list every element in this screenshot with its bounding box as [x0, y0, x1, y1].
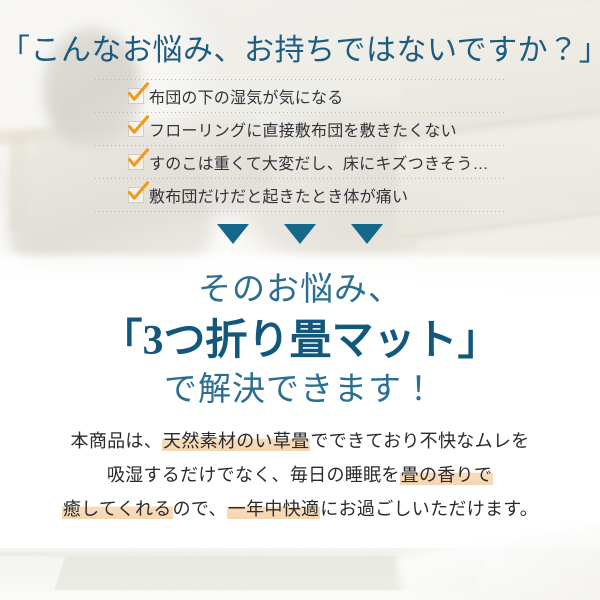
advertisement-banner: 「こんなお悩み、お持ちではないですか？」 布団の下の湿気が気になる フ [0, 0, 600, 600]
page-title: 「こんなお悩み、お持ちではないですか？」 [0, 36, 600, 66]
list-item: フローリングに直接敷布団を敷きたくない [95, 113, 505, 145]
triangle-down-icon [351, 224, 383, 244]
downward-arrows-group [0, 224, 600, 244]
check-mark-icon [128, 154, 144, 170]
list-item-label: すのこは重くて大変だし、床にキズつきそう… [149, 150, 489, 174]
description-segment: 吸湿するだけでなく、毎日の睡眠を [107, 465, 400, 485]
check-mark-icon [128, 88, 144, 104]
solution-closing-text: で解決できます！ [0, 374, 600, 407]
check-mark-icon [128, 121, 144, 137]
list-item-label: フローリングに直接敷布団を敷きたくない [149, 117, 457, 141]
list-item: すのこは重くて大変だし、床にキズつきそう… [95, 146, 505, 178]
description-segment: 本商品は、 [71, 431, 163, 451]
list-item: 布団の下の湿気が気になる [95, 80, 505, 112]
description-highlight: 天然素材のい草畳 [162, 431, 310, 451]
check-mark-icon [128, 187, 144, 203]
description-segment: ので、 [173, 499, 227, 519]
checklist-divider [95, 211, 505, 212]
description-line: 癒してくれるので、一年中快適にお過ごしいただけます。 [0, 492, 600, 526]
description-highlight: 畳の香りで [400, 465, 494, 485]
banner-content: 「こんなお悩み、お持ちではないですか？」 布団の下の湿気が気になる フ [0, 0, 600, 600]
triangle-down-icon [284, 224, 316, 244]
list-item-label: 布団の下の湿気が気になる [149, 84, 343, 108]
description-line: 吸湿するだけでなく、毎日の睡眠を畳の香りで [0, 458, 600, 492]
description-highlight: 一年中快適 [227, 499, 321, 519]
list-item-label: 敷布団だけだと起きたとき体が痛い [149, 183, 408, 207]
description-paragraph: 本商品は、天然素材のい草畳でできており不快なムレを 吸湿するだけでなく、毎日の睡… [0, 424, 600, 526]
solution-lead-text: そのお悩み、 [0, 274, 600, 307]
description-segment: にお過ごしいただけます。 [320, 499, 538, 519]
triangle-down-icon [217, 224, 249, 244]
description-highlight: 癒してくれる [62, 499, 173, 519]
problem-checklist: 布団の下の湿気が気になる フローリングに直接敷布団を敷きたくない す [95, 79, 505, 212]
product-name-heading: 「3つ折り畳マット」 [0, 320, 600, 362]
list-item: 敷布団だけだと起きたとき体が痛い [95, 179, 505, 211]
description-segment: でできており不快なムレを [310, 431, 529, 451]
description-line: 本商品は、天然素材のい草畳でできており不快なムレを [0, 424, 600, 458]
